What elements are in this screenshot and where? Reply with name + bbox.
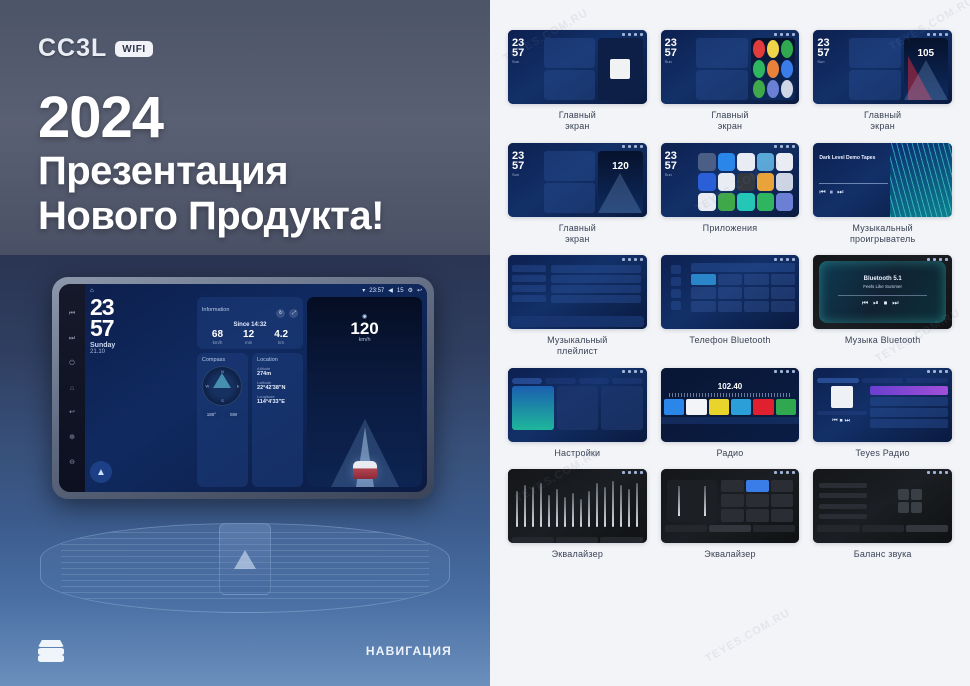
volume-icon: ◀	[388, 287, 393, 294]
thumbnail-sound-balance[interactable]	[813, 469, 952, 543]
thumbnail-bluetooth-music[interactable]: Bluetooth 5.1 Feels Like Summer ⏮⏯⏹⏭	[813, 255, 952, 329]
layers-icon	[38, 640, 64, 662]
gallery-item[interactable]: 2357Sun Главныйэкран	[661, 30, 800, 133]
compass-direction: SW	[224, 410, 243, 419]
screenshot-gallery-panel: 2357Sun Главныйэкран	[490, 0, 970, 686]
thumbnail-home-speed-red[interactable]: 2357Sun 105	[813, 30, 952, 104]
status-time: 23:57	[369, 288, 384, 294]
gallery-item[interactable]: Баланс звука	[813, 469, 952, 560]
altitude-value: 274m	[257, 371, 298, 377]
headline: 2024 Презентация Нового Продукта!	[38, 88, 384, 238]
brand-name: CC3L	[38, 34, 107, 63]
side-key-column[interactable]: ⏮ ⏭ ⏻ ⌂ ↩ ⊕ ⊖	[59, 284, 85, 492]
location-card[interactable]: Location Altitude 274m Latitude 22°42'38…	[252, 353, 303, 487]
hazard-triangle-icon	[234, 550, 256, 569]
back-icon[interactable]: ↩	[417, 287, 422, 294]
head-unit-screen: ⏮ ⏭ ⏻ ⌂ ↩ ⊕ ⊖ ⌂ ▾ 23:57	[59, 284, 427, 492]
slide-footer: НАВИГАЦИЯ	[0, 616, 490, 686]
speed-value: 120	[307, 320, 422, 337]
gallery-caption: Главныйэкран	[711, 110, 748, 133]
expand-icon[interactable]: ⤢	[289, 309, 298, 318]
gallery-item[interactable]: 2357Sun	[661, 143, 800, 246]
car-illustration	[353, 461, 377, 479]
stat-value: 4.2	[274, 330, 288, 340]
bluetooth-version: Bluetooth 5.1	[864, 276, 902, 282]
thumbnail-home-apps[interactable]: 2357Sun	[661, 30, 800, 104]
brand-logo: CC3L WIFI	[38, 34, 153, 63]
compass-south: S	[221, 398, 224, 403]
gallery-item[interactable]: 2357Sun Главныйэкран	[508, 30, 647, 133]
compass-west: W	[205, 384, 209, 389]
clock-column: 23 57 Sunday 21.10 ▲	[90, 297, 193, 487]
gallery-item[interactable]: Bluetooth 5.1 Feels Like Summer ⏮⏯⏹⏭ Муз…	[813, 255, 952, 358]
gallery-caption: Настройки	[554, 448, 600, 459]
back-key-icon[interactable]: ↩	[69, 409, 75, 416]
thumbnail-equalizer-presets[interactable]	[661, 469, 800, 543]
speed-unit: km/h	[307, 337, 422, 343]
refresh-icon[interactable]: ↻	[276, 309, 285, 318]
compass-cone-icon	[213, 373, 231, 388]
gallery-caption: Музыкальныйпроигрыватель	[850, 223, 915, 246]
compass-heading: 180°	[202, 410, 221, 419]
gallery-caption: Музыкальныйплейлист	[547, 335, 607, 358]
gallery-item[interactable]: 2357Sun 120 Главныйэкран	[508, 143, 647, 246]
stat-unit: km	[274, 340, 288, 345]
compass-east: E	[237, 384, 240, 389]
gallery-item[interactable]: Телефон Bluetooth	[661, 255, 800, 358]
stat-unit: min	[243, 340, 254, 345]
presentation-slide: CC3L WIFI 2024 Презентация Нового Продук…	[0, 0, 970, 686]
clock-widget: 23 57 Sunday 21.10	[90, 297, 193, 355]
gallery-caption: Радио	[716, 448, 743, 459]
prev-key-icon[interactable]: ⏮	[69, 310, 75, 317]
status-bar: ⌂ ▾ 23:57 ◀ 15 ⚙ ↩	[85, 284, 427, 297]
thumbnail-home-speed[interactable]: 2357Sun 120	[508, 143, 647, 217]
screenshot-grid: 2357Sun Главныйэкран	[508, 30, 952, 560]
head-unit-bezel: ⏮ ⏭ ⏻ ⌂ ↩ ⊕ ⊖ ⌂ ▾ 23:57	[52, 277, 434, 499]
waveform-visual	[890, 143, 952, 217]
latitude-value: 22°42'38"N	[257, 385, 298, 391]
gallery-caption: Главныйэкран	[864, 110, 901, 133]
longitude-value: 114°4'33"E	[257, 399, 298, 405]
gear-icon[interactable]: ⚙	[408, 287, 413, 294]
thumbnail-apps[interactable]: 2357Sun	[661, 143, 800, 217]
left-hero-panel: CC3L WIFI 2024 Презентация Нового Продук…	[0, 0, 490, 686]
head-unit-ui: ⌂ ▾ 23:57 ◀ 15 ⚙ ↩ 23	[85, 284, 427, 492]
thumbnail-equalizer-bands[interactable]	[508, 469, 647, 543]
compass-card[interactable]: Compass N E S W	[197, 353, 248, 487]
volume-down-key-icon[interactable]: ⊖	[69, 459, 75, 466]
compass-title: Compass	[202, 357, 243, 363]
equalizer-band-sliders[interactable]	[508, 477, 647, 537]
thumbnail-radio[interactable]: 102.40	[661, 368, 800, 442]
thumbnail-speed-value: 120	[598, 161, 642, 172]
head-unit-content: 23 57 Sunday 21.10 ▲ Infor	[85, 297, 427, 492]
gallery-item[interactable]: Эквалайзер	[508, 469, 647, 560]
speed-readout: ◉ 120 km/h	[307, 313, 422, 343]
gallery-item[interactable]: Музыкальныйплейлист	[508, 255, 647, 358]
gallery-item[interactable]: Эквалайзер	[661, 469, 800, 560]
next-key-icon[interactable]: ⏭	[69, 335, 75, 342]
info-column: Information ↻ ⤢ Since 14:32 68 km/h	[197, 297, 303, 487]
clock-minutes: 57	[90, 318, 193, 339]
power-key-icon[interactable]: ⏻	[69, 360, 75, 367]
track-title: Dark Level Demo Tapes	[819, 155, 887, 161]
headline-line1: Презентация	[38, 149, 384, 194]
thumbnail-teyes-radio[interactable]: ⏮⏹⏭	[813, 368, 952, 442]
home-key-icon[interactable]: ⌂	[70, 385, 74, 392]
nav-section-label: НАВИГАЦИЯ	[366, 644, 452, 658]
compass-dial: N E S W	[202, 366, 242, 406]
gallery-item[interactable]: 2357Sun 105 Главныйэкран	[813, 30, 952, 133]
gallery-item[interactable]: Настройки	[508, 368, 647, 459]
navigation-icon[interactable]: ▲	[90, 461, 112, 483]
volume-up-key-icon[interactable]: ⊕	[69, 434, 75, 441]
thumbnail-music-playlist[interactable]	[508, 255, 647, 329]
information-card[interactable]: Information ↻ ⤢ Since 14:32 68 km/h	[197, 297, 303, 349]
wifi-icon: ▾	[362, 287, 365, 294]
gallery-caption: Приложения	[703, 223, 758, 234]
watermark: TEYES.COM.RU	[703, 607, 792, 665]
gallery-caption: Эквалайзер	[552, 549, 603, 560]
gallery-caption: Главныйэкран	[559, 110, 596, 133]
clock-day: Sunday	[90, 342, 193, 349]
clock-date: 21.10	[90, 349, 193, 355]
balance-pad[interactable]	[898, 489, 922, 513]
bluetooth-track: Feels Like Summer	[863, 284, 902, 289]
gallery-item[interactable]: ⏮⏹⏭ Teyes Радио	[813, 368, 952, 459]
gallery-caption: Главныйэкран	[559, 223, 596, 246]
gallery-caption: Teyes Радио	[856, 448, 910, 459]
thumbnail-bluetooth-phone[interactable]	[661, 255, 800, 329]
hazard-light-button[interactable]	[219, 523, 271, 595]
gallery-caption: Баланс звука	[854, 549, 912, 560]
location-title: Location	[257, 357, 298, 363]
thumbnail-home-media[interactable]: 2357Sun	[508, 30, 647, 104]
stat-unit: km/h	[212, 340, 223, 345]
information-title: Information	[202, 307, 230, 313]
thumbnail-speed-value: 105	[904, 48, 948, 59]
gallery-item[interactable]: Dark Level Demo Tapes ⏮⏸⏭ Музыкальныйпро…	[813, 143, 952, 246]
trip-since: Since 14:32	[202, 322, 298, 328]
speed-panel[interactable]: ◉ 120 km/h	[307, 297, 422, 487]
wifi-badge: WIFI	[115, 41, 153, 57]
thumbnail-settings[interactable]	[508, 368, 647, 442]
radio-frequency: 102.40	[661, 376, 800, 391]
status-volume: 15	[397, 288, 404, 294]
trip-stats: 68 km/h 12 min 4.2 km	[202, 330, 298, 345]
compass-north: N	[221, 369, 224, 374]
compass-location-row: Compass N E S W	[197, 353, 303, 487]
thumbnail-music-player[interactable]: Dark Level Demo Tapes ⏮⏸⏭	[813, 143, 952, 217]
gallery-caption: Телефон Bluetooth	[689, 335, 770, 346]
home-indicator-icon[interactable]: ⌂	[90, 288, 94, 294]
gallery-caption: Эквалайзер	[704, 549, 755, 560]
headline-year: 2024	[38, 88, 384, 149]
stat-value: 12	[243, 330, 254, 340]
stat-value: 68	[212, 330, 223, 340]
headline-line2: Нового Продукта!	[38, 194, 384, 239]
gallery-item[interactable]: 102.40 Радио	[661, 368, 800, 459]
gallery-caption: Музыка Bluetooth	[845, 335, 921, 346]
